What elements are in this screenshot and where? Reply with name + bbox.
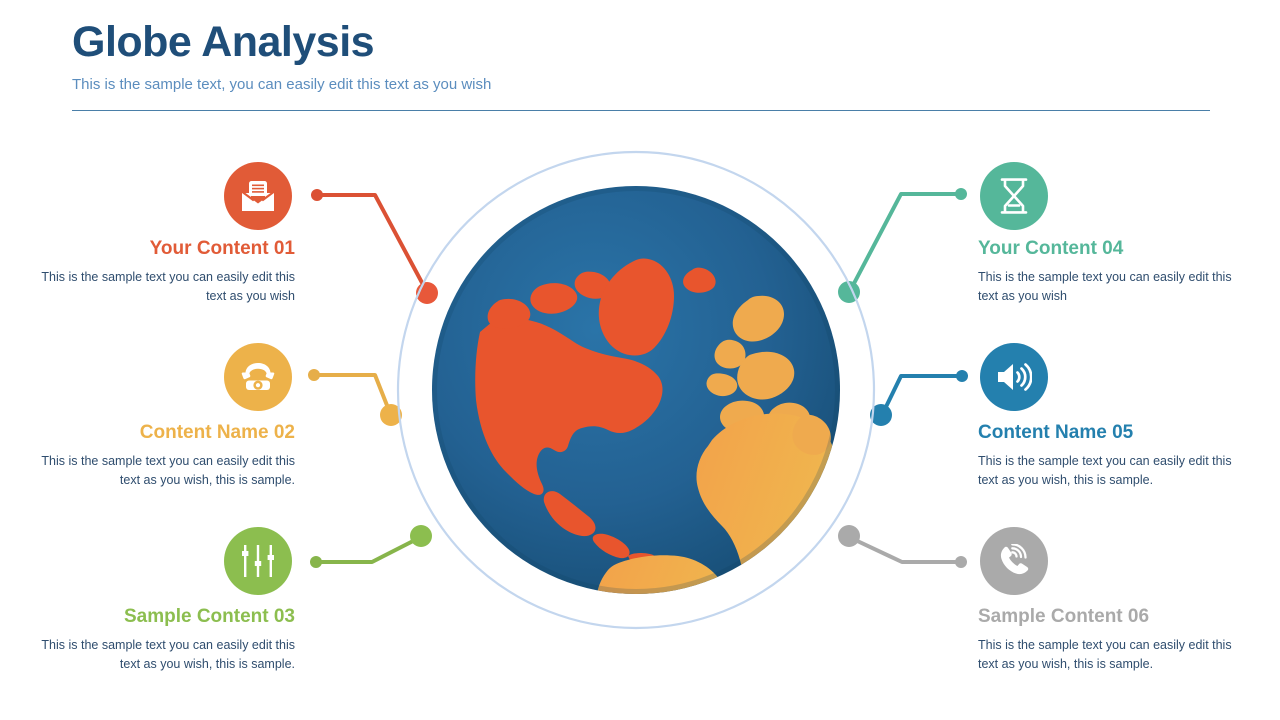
sliders-equalizer-icon <box>242 545 274 577</box>
content-item-03: Sample Content 03 This is the sample tex… <box>35 606 295 675</box>
item-body-05: This is the sample text you can easily e… <box>978 452 1238 491</box>
speaker-volume-icon <box>996 361 1032 393</box>
infographic-stage: Your Content 01 This is the sample text … <box>0 0 1280 720</box>
item-title-01: Your Content 01 <box>35 238 295 261</box>
hourglass-icon <box>999 178 1029 214</box>
item-icon-circle-04[interactable] <box>980 162 1048 230</box>
content-item-01: Your Content 01 This is the sample text … <box>35 238 295 307</box>
item-title-02: Content Name 02 <box>35 422 295 445</box>
landmass-africa <box>696 414 861 630</box>
item-icon-circle-02[interactable] <box>224 343 292 411</box>
item-body-06: This is the sample text you can easily e… <box>978 636 1238 675</box>
content-item-05: Content Name 05 This is the sample text … <box>978 422 1238 491</box>
item-body-03: This is the sample text you can easily e… <box>35 636 295 675</box>
item-icon-circle-03[interactable] <box>224 527 292 595</box>
item-body-04: This is the sample text you can easily e… <box>978 268 1238 307</box>
content-item-04: Your Content 04 This is the sample text … <box>978 238 1238 307</box>
content-item-02: Content Name 02 This is the sample text … <box>35 422 295 491</box>
item-title-05: Content Name 05 <box>978 422 1238 445</box>
item-icon-circle-05[interactable] <box>980 343 1048 411</box>
item-icon-circle-01[interactable] <box>224 162 292 230</box>
content-item-06: Sample Content 06 This is the sample tex… <box>978 606 1238 675</box>
phone-signal-icon <box>997 544 1031 578</box>
item-body-01: This is the sample text you can easily e… <box>35 268 295 307</box>
connector-05 <box>870 370 968 426</box>
envelope-document-icon <box>240 180 276 212</box>
rotary-telephone-icon <box>240 362 276 392</box>
connector-02 <box>308 369 402 426</box>
item-title-03: Sample Content 03 <box>35 606 295 629</box>
item-title-04: Your Content 04 <box>978 238 1238 261</box>
globe-illustration <box>396 150 876 630</box>
item-body-02: This is the sample text you can easily e… <box>35 452 295 491</box>
item-icon-circle-06[interactable] <box>980 527 1048 595</box>
item-title-06: Sample Content 06 <box>978 606 1238 629</box>
